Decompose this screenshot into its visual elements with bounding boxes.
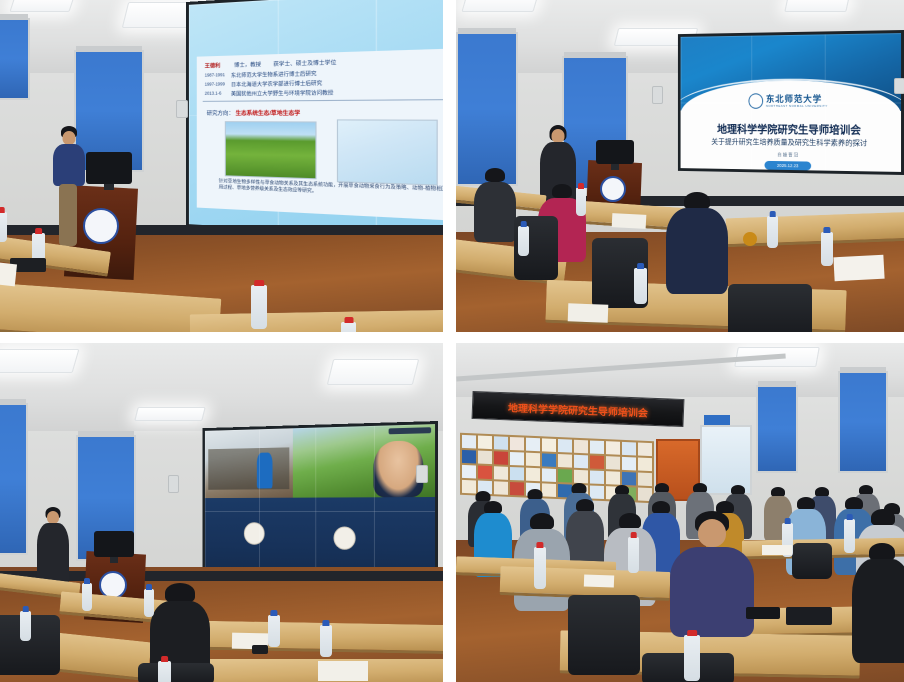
water-bottle — [158, 661, 171, 682]
attendee-front — [852, 543, 904, 663]
shelf-book — [494, 451, 508, 465]
shelf-book — [574, 470, 588, 484]
ceiling-light — [134, 407, 205, 421]
speaker-head — [63, 131, 76, 145]
shelf-book — [526, 438, 540, 452]
video-wall: 东北师范大学 NORTHEAST NORMAL UNIVERSITY 地理科学学… — [678, 30, 904, 175]
shelf-book — [558, 469, 572, 483]
water-bottle — [684, 635, 700, 681]
presenter-head — [552, 129, 565, 143]
shelf-book — [510, 467, 524, 481]
shelf-book — [510, 452, 524, 466]
attendee-head — [698, 519, 726, 547]
chair — [792, 543, 832, 579]
cv-row-text: 美国犹他州立大学野生与环境学院访问教授 — [231, 89, 334, 97]
collage-panel-top-right: 东北师范大学 NORTHEAST NORMAL UNIVERSITY 地理科学学… — [456, 0, 904, 332]
phone — [746, 607, 780, 619]
window-blind — [838, 371, 888, 473]
water-bottle — [144, 589, 154, 617]
wall-sign — [704, 415, 730, 425]
shelf-book — [494, 436, 508, 450]
event-banner-text: 地理科学学院研究生导师培训会 — [508, 399, 648, 419]
water-bottle — [268, 615, 280, 647]
cv-title: 博士，教授 — [234, 62, 261, 69]
water-bottle — [634, 268, 647, 304]
water-bottle — [628, 537, 639, 573]
water-bottle — [82, 583, 92, 611]
attendee — [474, 168, 516, 248]
cv-figure-left — [225, 121, 317, 179]
attendee-body — [670, 547, 754, 637]
paper — [584, 574, 614, 587]
podium-monitor — [86, 152, 132, 184]
shelf-book — [558, 439, 572, 453]
photo-bottom-right: 地理科学学院研究生导师培训会 — [456, 343, 904, 682]
shelf-book — [574, 440, 588, 454]
water-bottle — [0, 212, 7, 242]
ceiling-light — [461, 0, 538, 12]
cv-row-years: 1987-1991 — [205, 72, 225, 78]
cv-row-years: 2013.1-6 — [205, 91, 222, 96]
speaker — [52, 126, 86, 246]
shelf-book — [542, 468, 556, 482]
window-blind — [756, 385, 798, 473]
wall-speaker — [894, 78, 904, 94]
shelf-book — [462, 435, 476, 449]
cv-name: 王德利 — [205, 63, 221, 69]
ceiling-light — [9, 0, 74, 12]
podium-monitor — [596, 140, 634, 164]
water-bottle — [576, 188, 586, 216]
collage-panel-bottom-left — [0, 343, 443, 682]
attendee-hair — [552, 184, 572, 198]
ceiling-light — [784, 0, 849, 12]
attendee-hair — [871, 509, 895, 526]
wall-speaker — [168, 475, 179, 493]
shelf-book — [558, 454, 572, 468]
shelf-book — [494, 466, 508, 480]
shelf-book — [542, 453, 556, 467]
window-blind — [0, 403, 28, 555]
shelf-book — [606, 456, 620, 470]
shelf-book — [478, 466, 492, 480]
shelf-book — [622, 457, 636, 471]
shelf-book — [510, 437, 524, 451]
cv-figure-right — [337, 119, 438, 185]
water-bottle — [534, 547, 546, 589]
podium-seal — [83, 208, 119, 244]
water-bottle — [767, 216, 778, 248]
paper — [762, 545, 792, 555]
wall-speaker — [416, 465, 428, 483]
shelf-book — [606, 441, 620, 455]
shelf-book — [478, 451, 492, 465]
chair — [728, 284, 812, 332]
shelf-book — [574, 455, 588, 469]
chair — [568, 595, 640, 675]
shelf-book — [590, 440, 604, 454]
attendee-hair — [619, 513, 641, 529]
slide-cv: 王德利 博士，教授 获学士、硕士及博士学位 1987-1991 东北师范大学生物… — [197, 48, 443, 222]
water-bottle — [844, 519, 855, 553]
ceiling-light — [327, 359, 419, 385]
shelf-book — [526, 453, 540, 467]
ceiling-light — [0, 349, 79, 373]
water-bottle — [341, 322, 356, 332]
podium-seal — [600, 176, 626, 202]
wall-speaker — [652, 86, 663, 104]
cv-direction-label: 研究方向： — [207, 111, 234, 117]
cv-row-text: 日本北海道大学农学部进行博士后研究 — [231, 80, 322, 89]
attendee-front — [670, 511, 754, 637]
shelf-book — [590, 470, 604, 484]
water-bottle — [20, 611, 31, 641]
water-bottle — [518, 226, 529, 256]
attendee-body — [852, 559, 904, 663]
cv-row-years: 1997-1999 — [205, 81, 225, 86]
shelf-book — [526, 468, 540, 482]
shelf-book — [590, 455, 604, 469]
notebook — [786, 607, 832, 625]
video-wall: 王德利 博士，教授 获学士、硕士及博士学位 1987-1991 东北师范大学生物… — [186, 0, 443, 246]
water-bottle — [320, 625, 332, 657]
shelf-book — [462, 450, 476, 464]
water-bottle — [251, 285, 267, 329]
photo-bottom-left — [0, 343, 443, 682]
shelf-book — [622, 442, 636, 456]
cv-divider — [203, 99, 443, 102]
desk — [190, 310, 443, 332]
shelf-book — [622, 472, 636, 486]
wall-speaker — [176, 100, 188, 118]
desk — [190, 659, 443, 682]
attendee-hair — [485, 168, 505, 182]
cv-direction-value: 生态系统生态/草地生态学 — [236, 111, 301, 117]
attendee-hair — [165, 583, 195, 603]
photo-top-right: 东北师范大学 NORTHEAST NORMAL UNIVERSITY 地理科学学… — [456, 0, 904, 332]
attendee-body — [474, 182, 516, 242]
attendee-hair — [530, 513, 554, 530]
room-ceiling — [456, 343, 904, 397]
shelf-book — [542, 438, 556, 452]
shelf-book — [478, 436, 492, 450]
window-blind — [456, 32, 518, 186]
video-wall-tiles — [681, 33, 901, 172]
water-bottle — [821, 232, 833, 266]
collage-gutter-horizontal — [0, 332, 904, 343]
cv-degrees: 获学士、硕士及博士学位 — [273, 60, 336, 68]
speaker-body — [53, 144, 85, 186]
shelf-book — [638, 443, 652, 457]
attendee — [666, 192, 728, 302]
chair — [138, 663, 214, 682]
photo-top-left: 王德利 博士，教授 获学士、硕士及博士学位 1987-1991 东北师范大学生物… — [0, 0, 443, 332]
shelf-book — [606, 471, 620, 485]
shelf-book — [462, 465, 476, 479]
attendee-body — [666, 208, 728, 294]
podium-monitor — [94, 531, 134, 557]
collage-panel-bottom-right: 地理科学学院研究生导师培训会 — [456, 343, 904, 682]
cv-row-text: 东北师范大学生物系进行博士后研究 — [231, 70, 317, 79]
window-blind — [0, 18, 30, 100]
photo-collage: 王德利 博士，教授 获学士、硕士及博士学位 1987-1991 东北师范大学生物… — [0, 0, 904, 682]
collage-panel-top-left: 王德利 博士，教授 获学士、硕士及博士学位 1987-1991 东北师范大学生物… — [0, 0, 443, 332]
shelf-book — [638, 458, 652, 472]
